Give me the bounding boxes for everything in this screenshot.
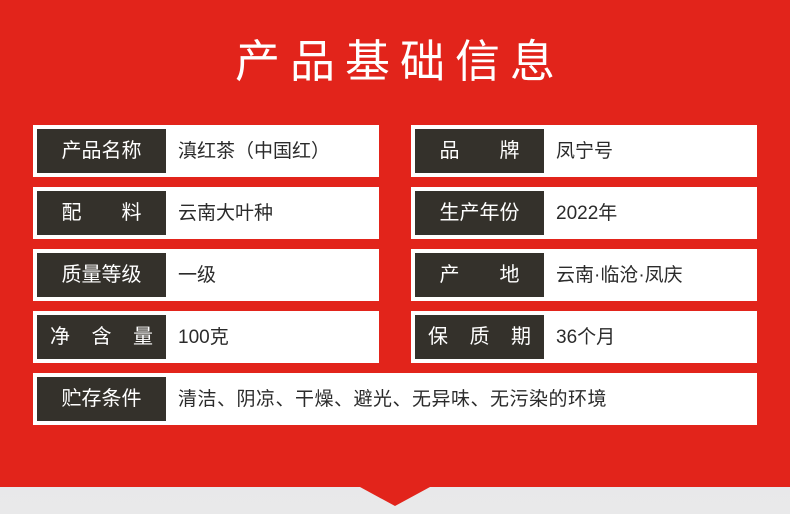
info-cell-origin: 产 地 云南·临沧·凤庆 — [411, 249, 757, 301]
page-title: 产品基础信息 — [0, 34, 790, 90]
field-value: 滇红茶（中国红） — [166, 129, 375, 173]
info-cell-net-weight: 净 含 量 100克 — [33, 311, 379, 363]
field-label: 保 质 期 — [415, 315, 544, 359]
field-value: 2022年 — [544, 191, 753, 235]
column-gap — [379, 125, 411, 177]
column-gap — [379, 311, 411, 363]
field-value: 清洁、阴凉、干燥、避光、无异味、无污染的环境 — [166, 377, 753, 421]
product-info-table: 产品名称 滇红茶（中国红） 品 牌 凤宁号 配 料 云南大叶种 生产年份 202… — [33, 125, 757, 435]
info-cell-product-name: 产品名称 滇红茶（中国红） — [33, 125, 379, 177]
field-label: 产 地 — [415, 253, 544, 297]
table-row: 净 含 量 100克 保 质 期 36个月 — [33, 311, 757, 363]
field-value: 凤宁号 — [544, 129, 753, 173]
field-value: 36个月 — [544, 315, 753, 359]
field-label: 贮存条件 — [37, 377, 166, 421]
field-value: 云南·临沧·凤庆 — [544, 253, 753, 297]
field-label: 产品名称 — [37, 129, 166, 173]
column-gap — [379, 187, 411, 239]
table-row: 配 料 云南大叶种 生产年份 2022年 — [33, 187, 757, 239]
info-cell-storage-conditions: 贮存条件 清洁、阴凉、干燥、避光、无异味、无污染的环境 — [33, 373, 757, 425]
field-label: 净 含 量 — [37, 315, 166, 359]
info-cell-shelf-life: 保 质 期 36个月 — [411, 311, 757, 363]
info-cell-ingredients: 配 料 云南大叶种 — [33, 187, 379, 239]
info-cell-brand: 品 牌 凤宁号 — [411, 125, 757, 177]
field-value: 云南大叶种 — [166, 191, 375, 235]
field-label: 质量等级 — [37, 253, 166, 297]
field-value: 一级 — [166, 253, 375, 297]
field-label: 品 牌 — [415, 129, 544, 173]
column-gap — [379, 249, 411, 301]
table-row: 产品名称 滇红茶（中国红） 品 牌 凤宁号 — [33, 125, 757, 177]
product-info-banner: 产品基础信息 产品名称 滇红茶（中国红） 品 牌 凤宁号 配 料 云南大叶种 生… — [0, 0, 790, 514]
table-row: 质量等级 一级 产 地 云南·临沧·凤庆 — [33, 249, 757, 301]
field-label: 配 料 — [37, 191, 166, 235]
field-value: 100克 — [166, 315, 375, 359]
table-row: 贮存条件 清洁、阴凉、干燥、避光、无异味、无污染的环境 — [33, 373, 757, 425]
field-label: 生产年份 — [415, 191, 544, 235]
info-cell-production-year: 生产年份 2022年 — [411, 187, 757, 239]
info-cell-quality-grade: 质量等级 一级 — [33, 249, 379, 301]
